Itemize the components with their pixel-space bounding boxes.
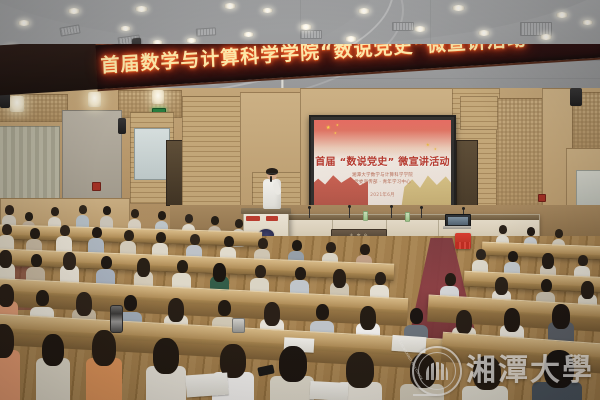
fire-alarm-box[interactable] [92, 182, 101, 191]
audience-person [0, 322, 20, 400]
notebook [185, 373, 228, 398]
screen-subtitle-2: 党委宣传部 · 青年学习中心 [314, 179, 451, 185]
laptop-screen [448, 217, 468, 225]
paper-cup [232, 318, 245, 333]
ceiling-downlight [556, 12, 568, 18]
fire-alarm-box[interactable] [538, 194, 546, 202]
laptop[interactable] [445, 214, 469, 228]
microphone [391, 207, 392, 218]
glasses-icon [267, 173, 277, 177]
notebook [310, 381, 349, 400]
water-bottle [363, 211, 368, 221]
ceiling-downlight [452, 5, 465, 11]
screen-subtitle-1: 湘潭大学数学与计算科学学院 [314, 172, 451, 178]
watermark: XIANGTAN UNIVERSITY 湘潭大學 [412, 346, 594, 396]
ceiling-downlight [18, 20, 30, 26]
audience-person [270, 346, 314, 400]
ceiling-downlight [300, 24, 312, 30]
thermos-tumbler [110, 305, 123, 333]
door-glass [134, 128, 170, 180]
wall-speaker [118, 118, 126, 134]
audience-person [36, 332, 70, 400]
ceiling-downlight [414, 26, 426, 32]
ceiling-downlight [135, 6, 148, 12]
xiangtan-university-seal-icon: XIANGTAN UNIVERSITY [412, 346, 462, 396]
handheld-microphone-icon [270, 176, 272, 182]
speaker-person [262, 169, 282, 213]
ceiling-downlight [582, 20, 593, 25]
photo-lecture-hall: 首届数学与计算科学学院“数说党史”微宣讲活动 ★ ★ ★ ★ ★ 首届 “数说党… [0, 0, 600, 400]
ceiling-downlight [358, 8, 370, 14]
microphone [349, 207, 350, 218]
watermark-chinese-text: 湘潭大學 [466, 356, 594, 386]
ceiling-downlight [68, 8, 80, 14]
audience-person [86, 330, 122, 400]
water-bottle [405, 212, 410, 222]
screen-date: 2021年6月 [314, 192, 451, 198]
screen-title: 首届 “数说党史” 微宣讲活动 [314, 153, 451, 168]
microphone [309, 208, 310, 218]
led-banner: 首届数学与计算科学学院“数说党史”微宣讲活动 [0, 44, 600, 100]
window-curtain [0, 126, 60, 202]
ceiling-downlight [478, 30, 490, 36]
audience-person [146, 338, 186, 400]
ceiling-downlight [186, 38, 197, 43]
red-stool[interactable] [455, 233, 471, 249]
ceiling-downlight [224, 3, 236, 9]
ceiling-downlight [345, 36, 357, 42]
projection-screen: ★ ★ ★ ★ ★ 首届 “数说党史” 微宣讲活动 湘潭大学数学与计算科学学院 … [309, 115, 456, 219]
ceiling-downlight [540, 34, 552, 40]
seal-english-ring: XIANGTAN UNIVERSITY [414, 348, 460, 394]
window-glass [576, 170, 600, 206]
ceiling-downlight [120, 26, 131, 31]
ceiling-downlight [243, 32, 254, 37]
microphone [421, 208, 422, 218]
ceiling-downlight [262, 8, 273, 13]
